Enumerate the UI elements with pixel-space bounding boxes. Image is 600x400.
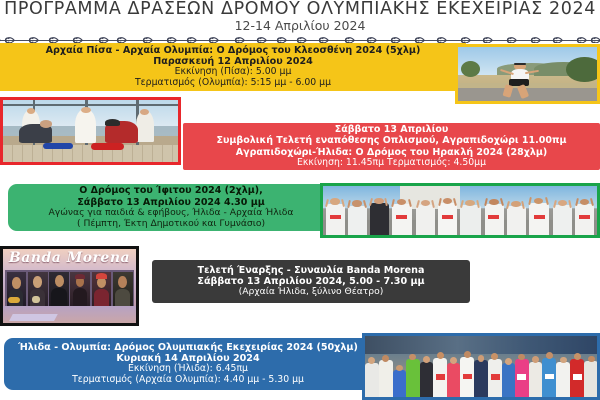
children-runners-photo [320,183,600,238]
race-start-crowd-photo [362,333,600,400]
poster-root: ΠΡΟΓΡΑΜΜΑ ΔΡΑΣΕΩΝ ΔΡΟΜΟΥ ΟΛΥΜΠΙΑΚΗΣ ΕΚΕΧ… [0,0,600,400]
event-date-agrapidochori: Σάββατο 13 Απριλίου [335,124,449,135]
event-panel-pisa-olympia: Αρχαία Πίσα - Αρχαία Ολυμπία: Ο Δρόμος τ… [0,43,466,91]
banda-morena-name: Banda Morena [3,250,136,266]
event-title-ilida-olympia: Ήλιδα - Ολυμπία: Δρόμος Ολυμπιακής Εκεχε… [18,342,358,353]
event-panel-ifitos: Ο Δρόμος του Ίφιτου 2024 (2χλμ), Σάββατο… [8,184,334,231]
poster-header: ΠΡΟΓΡΑΜΜΑ ΔΡΑΣΕΩΝ ΔΡΟΜΟΥ ΟΛΥΜΠΙΑΚΗΣ ΕΚΕΧ… [0,0,600,40]
event-times-agrapidochori: Εκκίνηση: 11.45πμ Τερματισμός: 4.50μμ [297,158,486,169]
race-crowd [365,336,597,397]
event-title-ifitos: Ο Δρόμος του Ίφιτου 2024 (2χλμ), [79,185,262,196]
event-panel-opening-ceremony: Τελετή Έναρξης - Συναυλία Banda Morena Σ… [152,260,470,303]
event-panel-ilida-olympia: Ήλιδα - Ολυμπία: Δρόμος Ολυμπιακής Εκεχε… [4,338,372,390]
event-title-opening-ceremony: Τελετή Έναρξης - Συναυλία Banda Morena [198,265,425,276]
kids-crowd [323,186,597,235]
armor-ceremony-photo [0,97,181,165]
event-venue-opening-ceremony: (Αρχαία Ήλιδα, ξύλινο Θέατρο) [239,287,384,298]
event-title-pisa-olympia: Αρχαία Πίσα - Αρχαία Ολυμπία: Ο Δρόμος τ… [46,45,421,56]
event-ceremony-agrapidochori: Συμβολική Τελετή εναπόθεσης Οπλισμού, Αγ… [217,135,567,146]
event-grades-ifitos: ( Πέμπτη, Έκτη Δημοτικού και Γυμνάσιο) [77,219,265,230]
page-title: ΠΡΟΓΡΑΜΜΑ ΔΡΑΣΕΩΝ ΔΡΟΜΟΥ ΟΛΥΜΠΙΑΚΗΣ ΕΚΕΧ… [0,0,600,19]
female-runner-photo [455,44,600,104]
event-panel-agrapidochori-ilida: Σάββατο 13 Απριλίου Συμβολική Τελετή ενα… [183,123,600,170]
banda-morena-poster-photo: Banda Morena [0,246,139,326]
laurel-branch-icon [0,31,600,43]
event-finish-ilida-olympia: Τερματισμός (Αρχαία Ολυμπία): 4.40 μμ - … [72,375,304,386]
event-finish-pisa-olympia: Τερματισμός (Ολυμπία): 5:15 μμ - 6.00 μμ [135,78,331,89]
